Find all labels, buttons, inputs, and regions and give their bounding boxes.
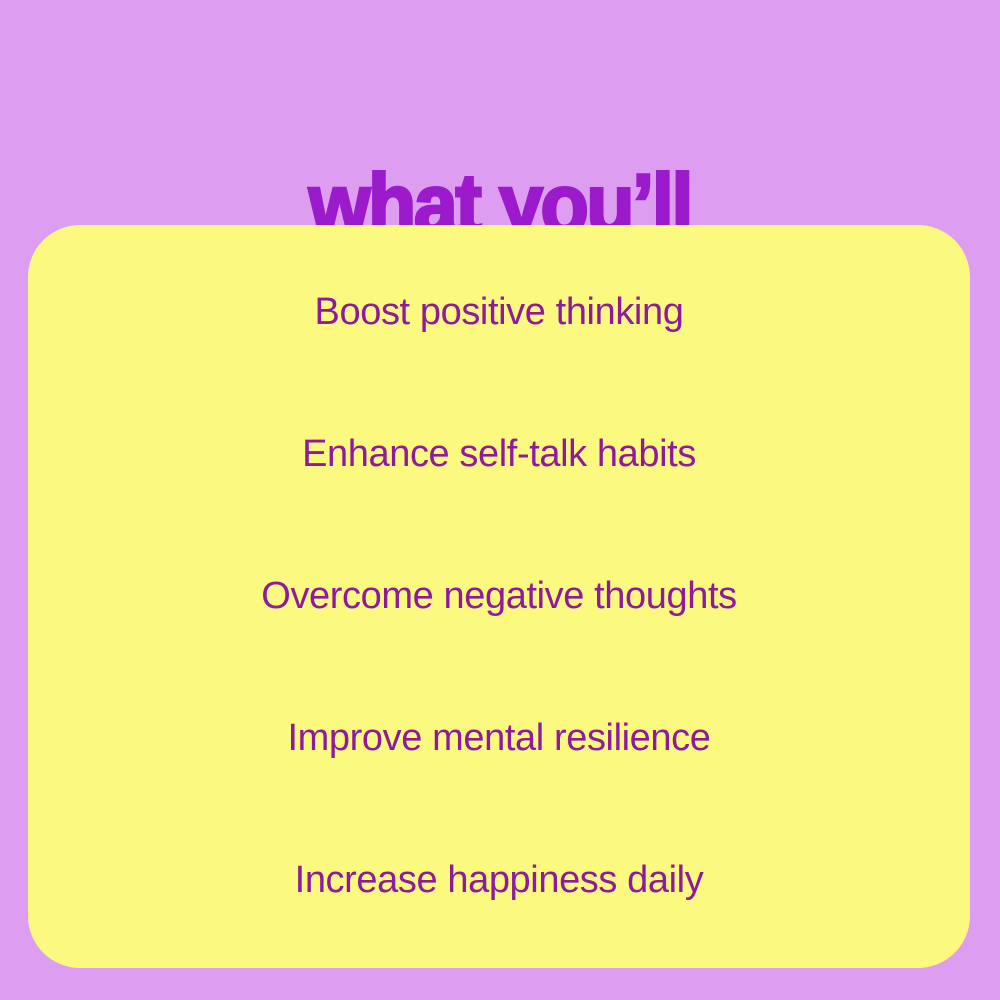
list-item-label: Boost positive thinking [315,292,684,334]
list-item: Improve mental resilience [28,668,970,810]
benefits-card: Boost positive thinking Enhance self-tal… [28,225,970,968]
list-item: Enhance self-talk habits [28,384,970,526]
poster-canvas: what you’ll learn inside Boost positive … [0,0,1000,1000]
list-item: Overcome negative thoughts [28,526,970,668]
list-item-label: Overcome negative thoughts [261,576,736,618]
list-item: Boost positive thinking [28,242,970,384]
list-item-label: Enhance self-talk habits [302,434,696,476]
list-item-label: Increase happiness daily [295,860,704,902]
list-item: Increase happiness daily [28,810,970,952]
list-item-label: Improve mental resilience [288,718,711,760]
benefits-list: Boost positive thinking Enhance self-tal… [28,225,970,968]
